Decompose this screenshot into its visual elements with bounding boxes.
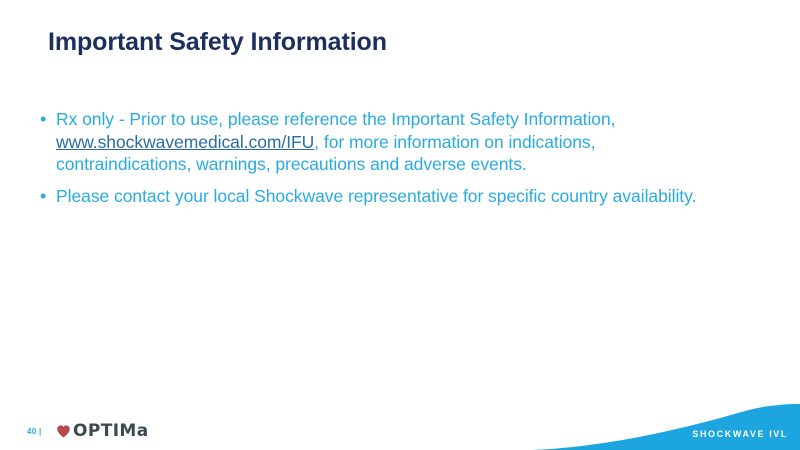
bullet-text-lead: Rx only - Prior to use, please reference… bbox=[56, 109, 616, 129]
ifu-link[interactable]: www.shockwavemedical.com/IFU bbox=[56, 132, 314, 152]
slide-number: 40 | bbox=[27, 427, 42, 436]
bullet-marker-icon: • bbox=[40, 108, 56, 131]
page-title: Important Safety Information bbox=[48, 27, 387, 57]
list-item: • Please contact your local Shockwave re… bbox=[40, 185, 730, 208]
body-content: • Rx only - Prior to use, please referen… bbox=[40, 108, 730, 216]
shockwave-swoosh-graphic bbox=[530, 404, 800, 450]
bullet-text: Rx only - Prior to use, please reference… bbox=[56, 108, 730, 176]
optima-logo: OPTIMa bbox=[56, 420, 149, 442]
footer: SHOCKWAVE IVL 40 | OPTIMa bbox=[0, 402, 800, 450]
heart-icon bbox=[56, 424, 71, 439]
optima-wordmark: OPTIMa bbox=[73, 423, 149, 440]
slide: Important Safety Information • Rx only -… bbox=[0, 0, 800, 450]
bullet-text: Please contact your local Shockwave repr… bbox=[56, 185, 730, 208]
list-item: • Rx only - Prior to use, please referen… bbox=[40, 108, 730, 176]
shockwave-wordmark: SHOCKWAVE IVL bbox=[692, 429, 788, 439]
bullet-marker-icon: • bbox=[40, 185, 56, 208]
